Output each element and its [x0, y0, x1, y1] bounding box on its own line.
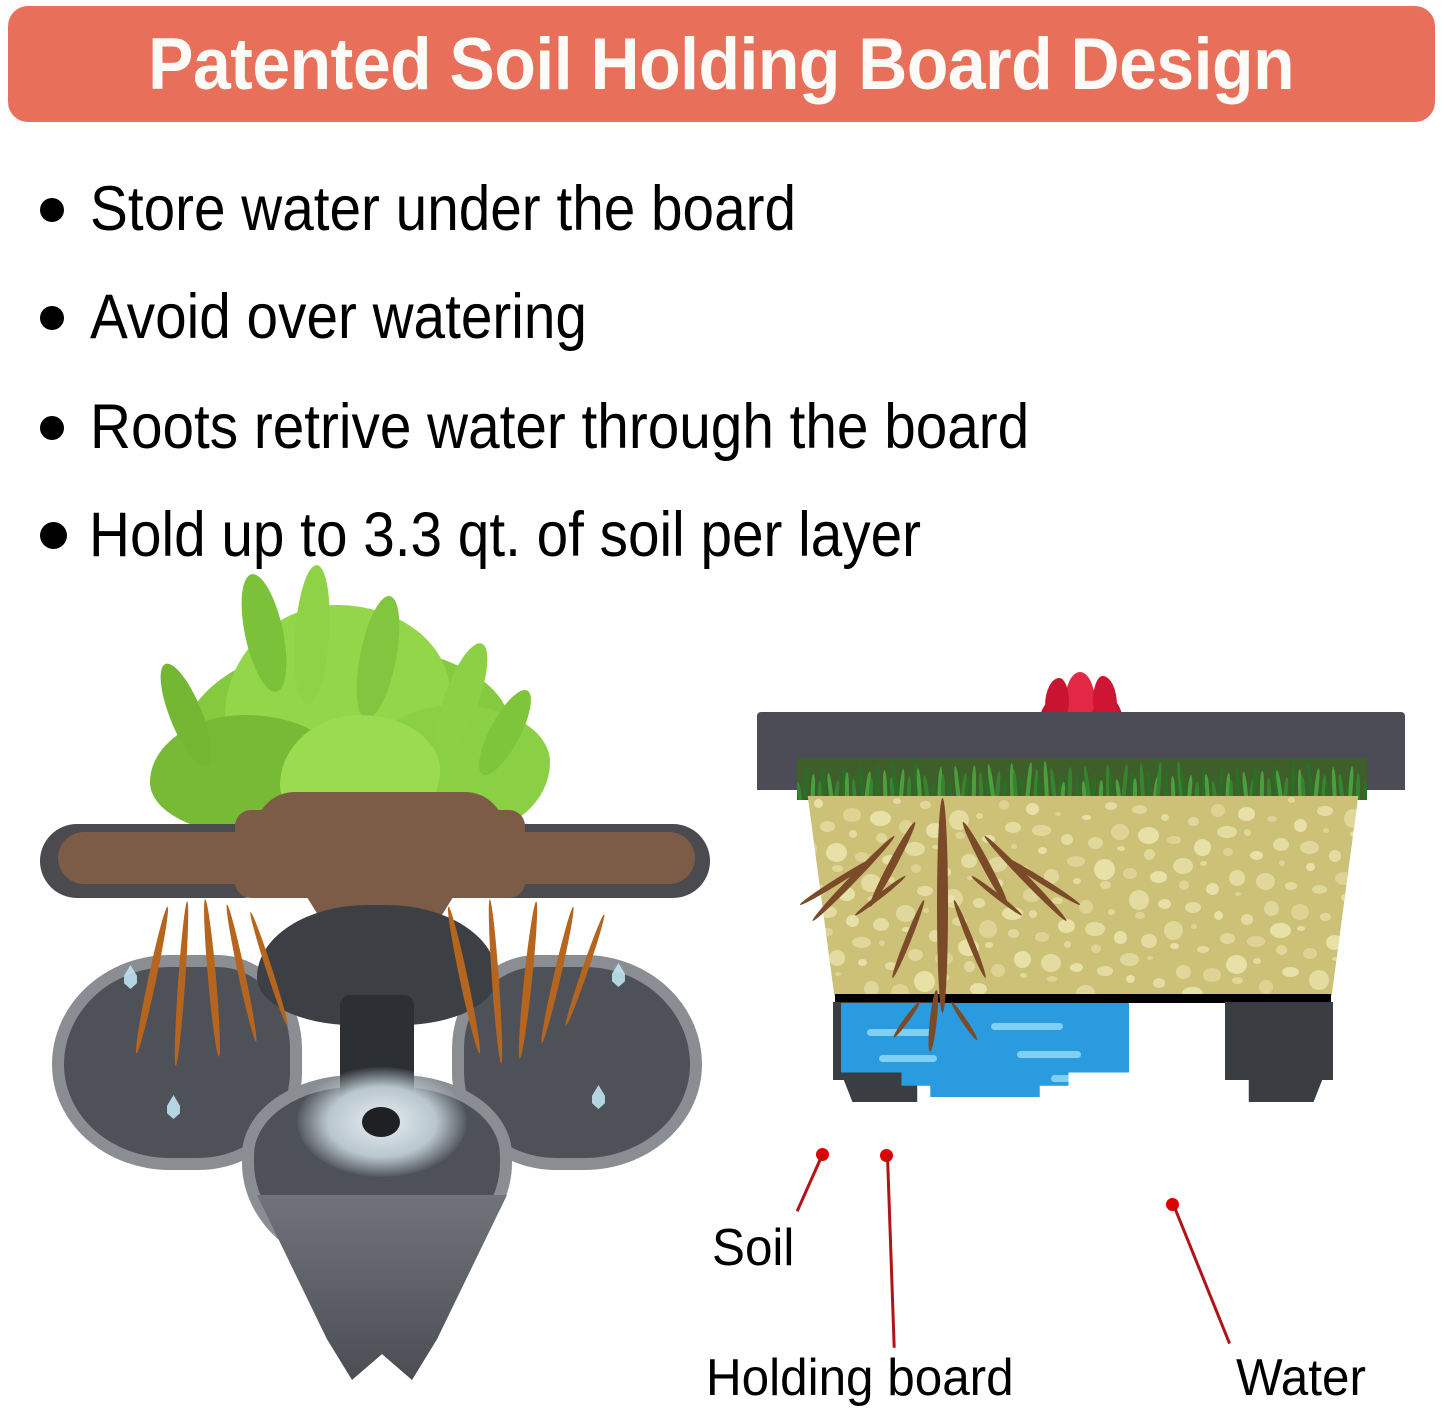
grass-blade — [1139, 763, 1145, 800]
soil-speckle — [820, 821, 835, 832]
soil-speckle — [1114, 931, 1127, 944]
soil-speckle — [1270, 923, 1291, 938]
soil-speckle — [985, 942, 993, 948]
soil-speckle — [852, 937, 871, 948]
soil-speckle — [1097, 966, 1113, 976]
list-item: Store water under the board — [40, 178, 875, 241]
grass-blade — [1217, 766, 1225, 800]
grass-blade — [1091, 773, 1097, 800]
page-title: Patented Soil Holding Board Design — [149, 28, 1295, 101]
soil-speckle — [1353, 938, 1373, 954]
soil-speckle — [923, 908, 929, 913]
bullet-point-icon — [40, 306, 64, 330]
soil-speckle — [1200, 861, 1207, 866]
grass-blade — [1252, 764, 1259, 800]
soil-speckle — [1129, 890, 1149, 910]
soil-speckle — [1291, 904, 1309, 920]
soil-speckle — [1188, 817, 1199, 826]
soil-speckle — [1064, 941, 1071, 948]
soil-speckle — [1279, 860, 1285, 866]
soil-speckle — [1008, 929, 1019, 938]
soil-speckle — [873, 918, 889, 931]
soil-speckle — [1267, 816, 1277, 822]
soil-speckle — [879, 940, 885, 946]
soil-speckle — [1073, 878, 1081, 884]
soil-speckle — [1085, 922, 1105, 936]
soil-speckle — [1282, 967, 1299, 977]
pot-cross-section-diagram — [735, 650, 1435, 1210]
grass-blade — [1313, 768, 1320, 800]
soil-speckle — [823, 928, 833, 936]
bullet-point-icon — [40, 522, 67, 549]
soil-speckle — [914, 971, 935, 992]
soil-speckle — [808, 969, 827, 984]
soil-speckle — [1088, 837, 1103, 849]
soil-speckle — [893, 798, 901, 804]
soil-speckle — [976, 813, 983, 819]
grass-blade — [1331, 767, 1337, 800]
soil-speckle — [1158, 899, 1171, 909]
leader-line — [1172, 1204, 1231, 1344]
soil-speckle — [832, 865, 843, 872]
soil-speckle — [1238, 807, 1255, 821]
soil-speckle — [1264, 901, 1279, 916]
grass-blade — [995, 771, 1002, 800]
soil-speckle — [1250, 851, 1263, 860]
soil-speckle — [1170, 943, 1179, 949]
soil-speckle — [790, 903, 807, 915]
grass-blade — [1363, 780, 1367, 800]
soil-speckle — [1273, 838, 1289, 851]
soil-speckle — [1317, 806, 1333, 816]
soil-speckle — [1197, 946, 1209, 953]
bullet-point-icon — [40, 416, 64, 440]
soil-speckle — [1067, 856, 1085, 867]
soil-speckle — [1020, 973, 1027, 978]
soil-speckle — [1232, 977, 1243, 984]
grass-blade — [1260, 771, 1265, 800]
soil-speckle — [1185, 902, 1201, 913]
grass-blade — [803, 767, 810, 800]
callout-label-soil: Soil — [712, 1222, 794, 1274]
soil-speckle — [849, 830, 857, 838]
soil-speckle — [1058, 919, 1075, 933]
soil-speckle — [1153, 978, 1165, 988]
soil-speckle — [991, 964, 1005, 977]
soil-speckle — [1211, 804, 1225, 817]
soil-speckle — [1220, 933, 1235, 944]
soil-speckle — [1108, 909, 1115, 915]
grass-blade — [1121, 764, 1129, 800]
soil-speckle — [802, 947, 815, 955]
soil-speckle — [964, 961, 975, 972]
soil-speckle — [814, 799, 823, 808]
soil-speckle — [1032, 825, 1051, 836]
soil-speckle — [1303, 948, 1317, 959]
grass-blade — [797, 782, 802, 800]
soil-speckle — [1167, 836, 1181, 844]
soil-speckle — [796, 925, 803, 931]
soil-speckle — [1029, 910, 1037, 918]
grass-blade — [1242, 772, 1249, 800]
soil-speckle — [1150, 871, 1167, 883]
soil-speckle — [1326, 935, 1343, 950]
soil-speckle — [1123, 868, 1137, 879]
soil-speckle — [1014, 951, 1031, 968]
soil-speckle — [1276, 945, 1287, 955]
soil-speckle — [1365, 982, 1379, 993]
grass-blade — [1164, 769, 1169, 800]
soil-speckle — [1176, 965, 1191, 979]
soil-speckle — [1214, 911, 1223, 920]
grass-blade — [1108, 772, 1114, 800]
soil-speckle — [1126, 975, 1135, 983]
soil-speckle — [1194, 839, 1211, 856]
soil-speckle — [1111, 824, 1129, 840]
soil-speckle — [1332, 957, 1339, 961]
soil-speckle — [1244, 829, 1251, 836]
soil-speckle — [1047, 976, 1057, 982]
soil-speckle — [1164, 921, 1183, 940]
soil-speckle — [843, 808, 861, 822]
grass-blade — [916, 768, 922, 800]
soil-speckle — [999, 800, 1009, 810]
grass-layer — [797, 758, 1367, 800]
soil-speckle — [1226, 955, 1247, 974]
bullet-text: Avoid over watering — [90, 286, 587, 349]
soil-speckle — [1356, 853, 1371, 867]
soil-speckle — [1217, 826, 1237, 838]
soil-speckle — [826, 843, 847, 862]
soil-speckle — [1320, 913, 1331, 921]
grass-blade — [972, 765, 977, 800]
soil-speckle — [787, 796, 793, 800]
planter-base-cone — [257, 1195, 507, 1380]
soil-speckle — [1094, 859, 1115, 880]
soil-speckle — [1329, 850, 1341, 862]
soil-speckle — [1141, 934, 1157, 948]
soil-speckle — [1229, 870, 1245, 886]
grass-blade — [826, 773, 833, 800]
soil-speckle — [1247, 936, 1265, 947]
grass-blade — [979, 772, 984, 800]
soil-speckle — [961, 854, 977, 868]
soil-speckle — [1035, 932, 1049, 942]
soil-speckle — [1350, 831, 1359, 837]
soil-speckle — [1203, 968, 1221, 982]
soil-speckle — [1241, 914, 1253, 925]
soil-speckle — [1005, 822, 1021, 833]
grass-blade — [1356, 773, 1360, 800]
soil-speckle — [858, 959, 867, 966]
soil-speckle — [1253, 958, 1261, 964]
list-item: Avoid over watering — [40, 286, 642, 349]
soil-speckle — [1061, 834, 1073, 845]
soil-speckle — [1259, 980, 1273, 994]
list-item: Hold up to 3.3 qt. of soil per layer — [40, 504, 1014, 567]
header-banner: Patented Soil Holding Board Design — [8, 6, 1435, 122]
soil-speckle — [1359, 960, 1369, 970]
soil-speckle — [908, 949, 923, 961]
soil-speckle — [920, 801, 931, 809]
bullet-text: Roots retrive water through the board — [90, 396, 1029, 459]
soil-speckle — [1011, 844, 1017, 849]
grass-blade — [1348, 766, 1354, 800]
soil-speckle — [1191, 924, 1197, 929]
grass-blade — [1156, 762, 1163, 800]
soil-speckle — [1344, 809, 1363, 828]
soil-speckle — [1091, 944, 1101, 953]
soil-speckle — [1288, 797, 1295, 803]
soil-speckle — [1294, 819, 1307, 832]
grass-blade — [1068, 767, 1073, 800]
soil-speckle — [1312, 885, 1327, 894]
grass-blade — [876, 763, 881, 800]
soil-speckle — [1100, 881, 1111, 889]
soil-speckle — [1285, 882, 1297, 890]
soil-speckle — [835, 972, 841, 976]
soil-speckle — [846, 915, 859, 927]
soil-speckle — [905, 842, 925, 856]
list-item: Roots retrive water through the board — [40, 396, 1134, 459]
soil-speckle — [1338, 979, 1351, 989]
grass-blade — [857, 764, 865, 800]
stacked-planter-photo — [30, 565, 720, 1375]
soil-speckle — [1235, 892, 1241, 896]
soil-speckle — [911, 864, 921, 873]
soil-speckle — [1120, 953, 1139, 966]
soil-speckle — [1297, 926, 1305, 931]
soil-speckle — [1362, 875, 1379, 888]
grass-blade — [882, 770, 887, 800]
soil-speckle — [805, 862, 813, 868]
callout-label-water: Water — [1236, 1352, 1366, 1404]
soil-speckle — [1223, 848, 1233, 856]
soil-speckle — [1179, 880, 1189, 890]
soil-speckle — [1309, 970, 1329, 990]
soil-speckle — [1161, 814, 1169, 821]
bullet-point-icon — [40, 198, 64, 222]
soil-speckle — [1041, 954, 1061, 972]
soil-speckle — [917, 886, 933, 896]
grass-blade — [1049, 768, 1056, 800]
soil-speckle — [1117, 846, 1125, 851]
soil-speckle — [793, 818, 805, 828]
grass-blade — [1290, 762, 1295, 800]
soil-speckle — [1132, 805, 1147, 814]
soil-speckle — [1105, 802, 1117, 810]
grass-blade — [845, 772, 849, 800]
soil-speckle — [1082, 815, 1091, 820]
soil-speckle — [1144, 849, 1155, 860]
soil-speckle — [829, 950, 845, 966]
grass-blade — [953, 766, 961, 800]
grass-blade — [1043, 761, 1049, 800]
soil-speckle — [1206, 883, 1219, 895]
soil-speckle — [1079, 900, 1093, 914]
grass-blade — [1235, 765, 1241, 800]
soil-speckle — [799, 840, 817, 858]
bullet-text: Store water under the board — [90, 178, 796, 241]
soil-speckle — [1147, 956, 1153, 960]
grass-blade — [1025, 762, 1033, 800]
soil-speckle — [1173, 858, 1193, 874]
grass-blade — [1012, 770, 1018, 800]
soil-speckle — [973, 898, 985, 908]
grass-blade — [1145, 770, 1152, 800]
soil-speckle — [1300, 841, 1319, 854]
soil-speckle — [1341, 894, 1349, 901]
soil-speckle — [1323, 828, 1329, 833]
soil-speckle — [1070, 963, 1083, 972]
callout-label-holding-board: Holding board — [706, 1352, 1014, 1404]
soil-speckle — [1347, 916, 1361, 924]
soil-speckle — [870, 811, 891, 826]
soil-speckle — [1256, 873, 1275, 890]
soil-speckle — [1135, 912, 1145, 919]
soil-speckle — [1052, 897, 1063, 904]
bullet-text: Hold up to 3.3 qt. of soil per layer — [89, 504, 921, 567]
soil-speckle — [1026, 803, 1039, 815]
soil-speckle — [1138, 827, 1159, 844]
soil-speckle — [1335, 872, 1353, 885]
soil-speckle — [955, 832, 965, 839]
soil-speckle — [1038, 847, 1047, 854]
soil-speckle — [1055, 812, 1061, 816]
grass-blade — [899, 769, 906, 800]
soil-speckle — [979, 920, 997, 938]
soil-speckle — [1306, 863, 1315, 871]
